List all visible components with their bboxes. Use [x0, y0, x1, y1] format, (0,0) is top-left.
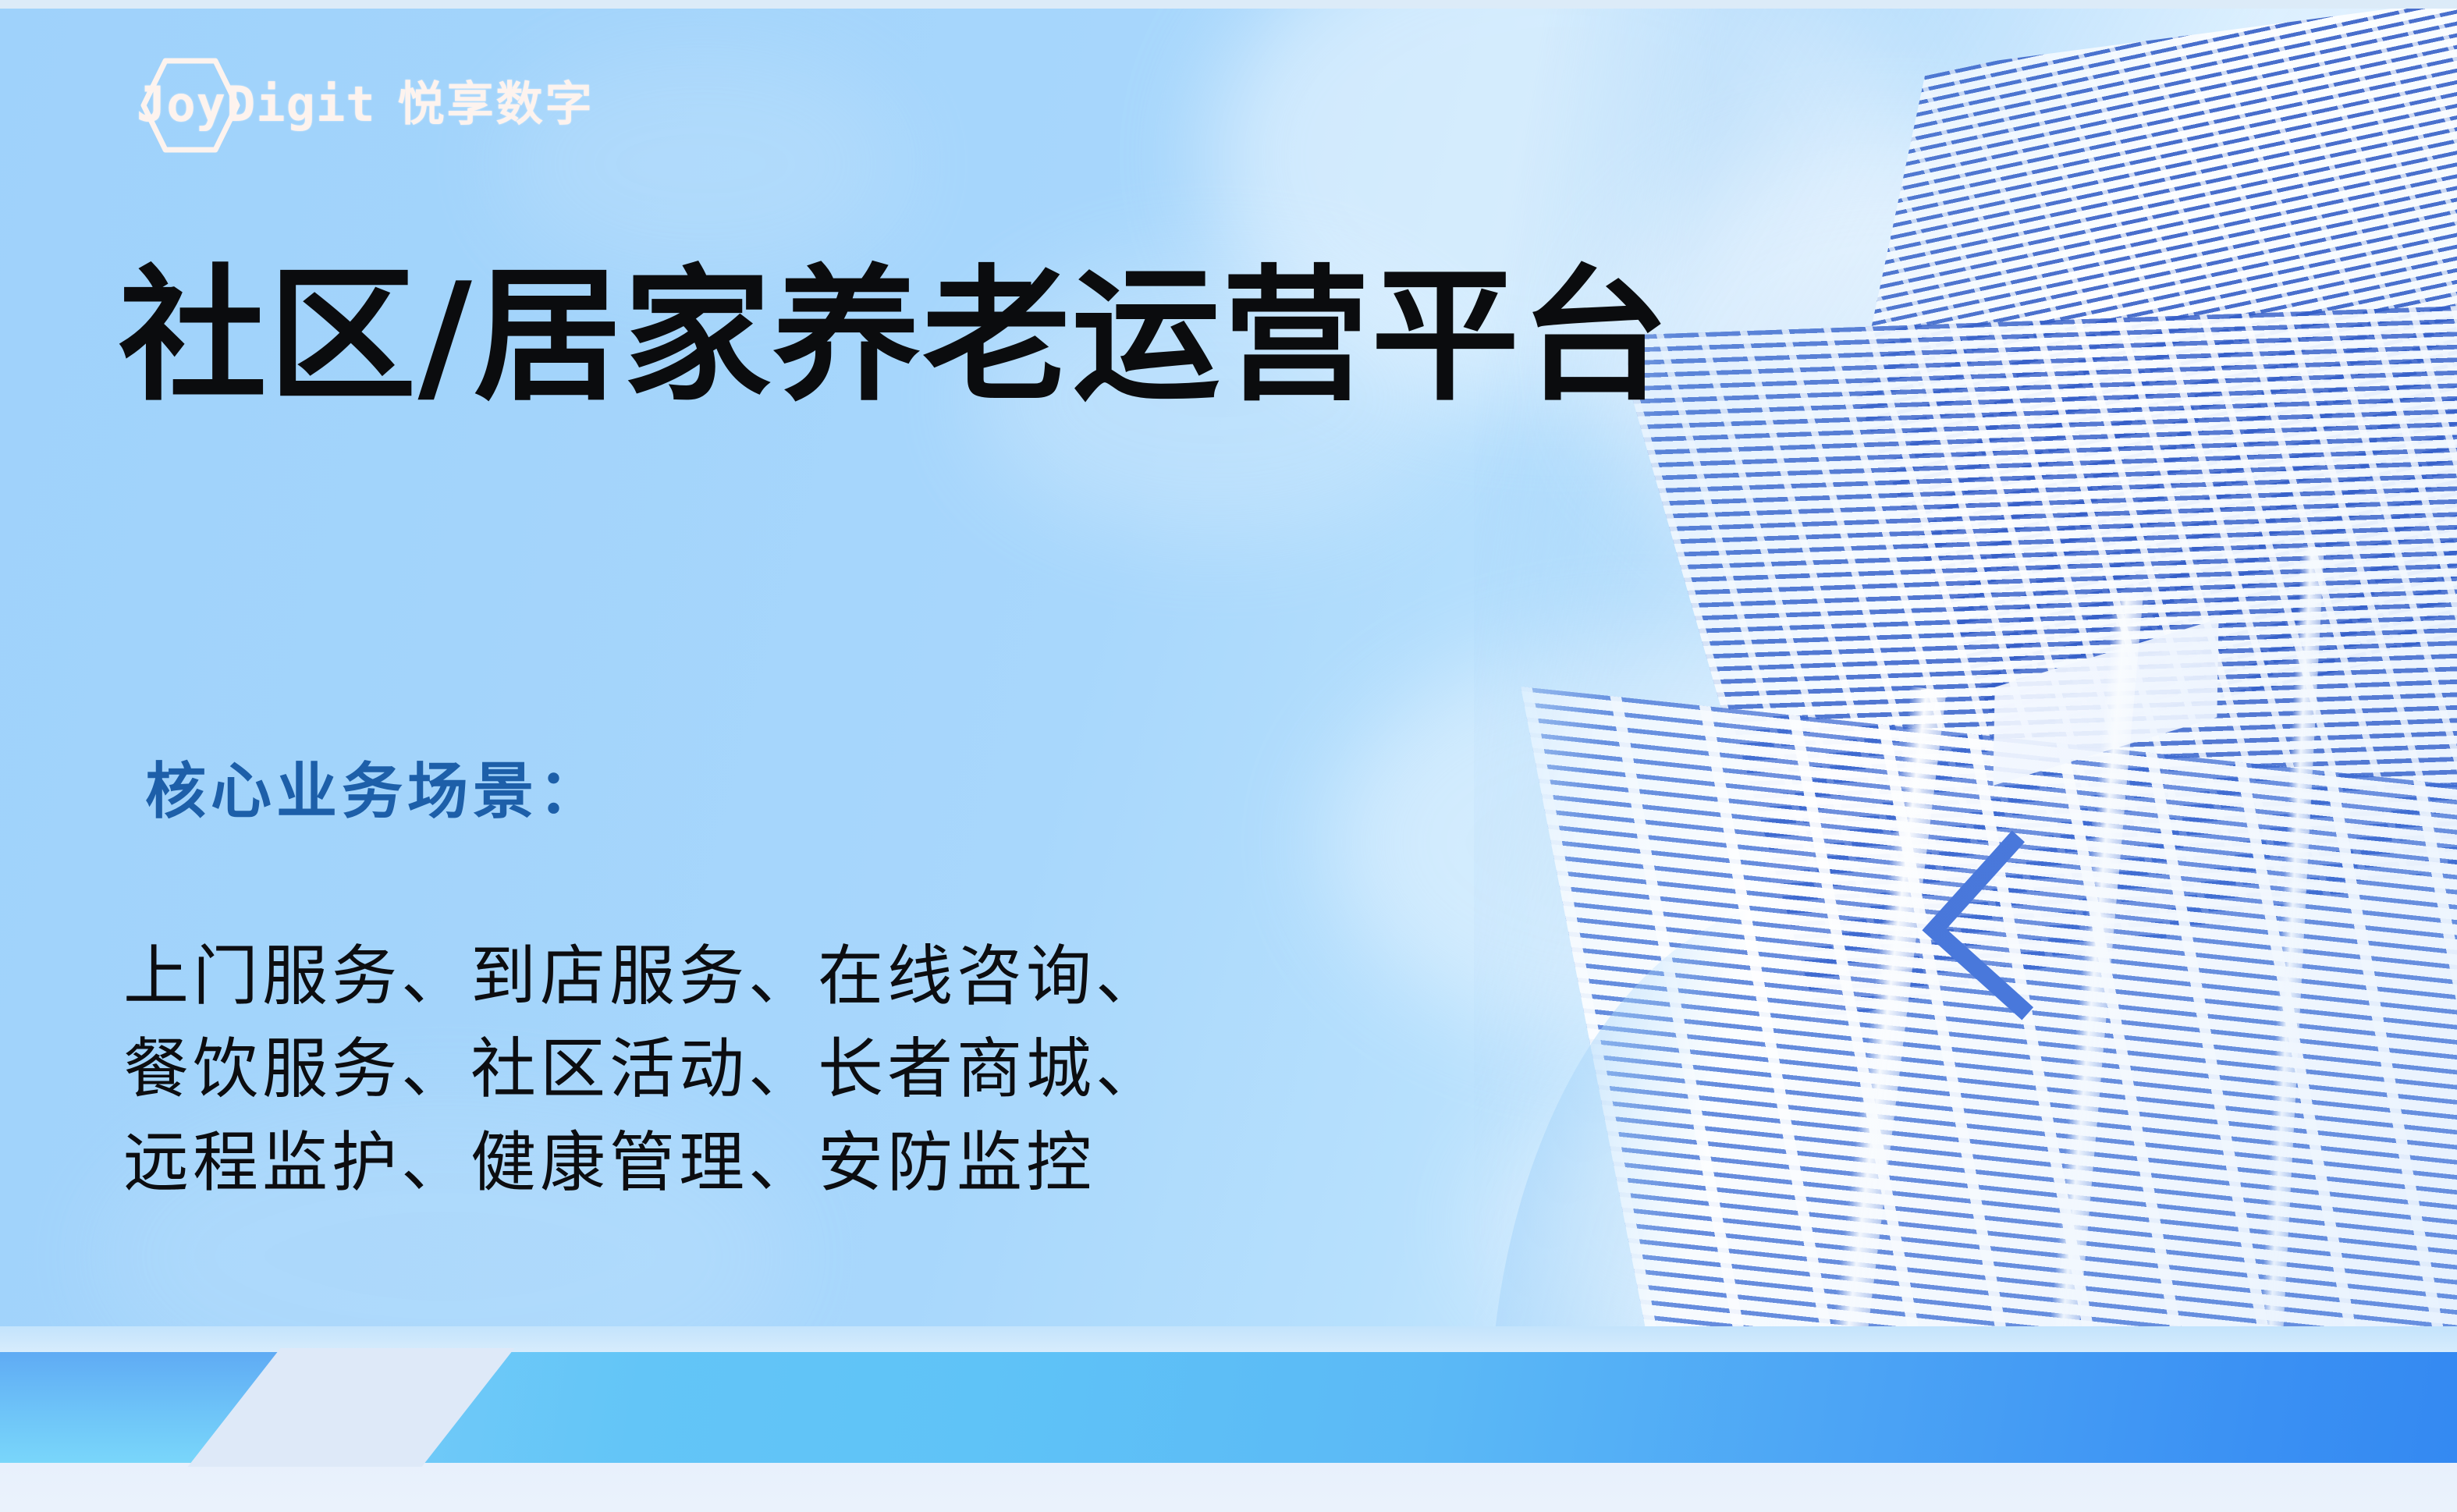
skyscraper-photo	[1474, 0, 2457, 1397]
brand-logo[interactable]: JoyDigit 悦享数字	[137, 69, 595, 140]
top-edge-strip	[0, 0, 2457, 9]
section-heading: 核心业务场景：	[145, 761, 604, 822]
scenario-list: 上门服务、到店服务、在线咨询、 餐饮服务、社区活动、长者商城、 远程监护、健康管…	[123, 930, 1165, 1209]
scenario-line: 远程监护、健康管理、安防监控	[123, 1116, 1165, 1209]
scenario-line: 餐饮服务、社区活动、长者商城、	[123, 1023, 1165, 1116]
page-title: 社区/居家养老运营平台	[119, 264, 1671, 409]
scenario-line: 上门服务、到店服务、在线咨询、	[123, 930, 1165, 1023]
logo-wordmark: JoyDigit	[137, 80, 376, 129]
bottom-decorative-band	[0, 1326, 2457, 1512]
logo-chinese-name: 悦享数字	[398, 81, 595, 128]
slide-canvas: JoyDigit 悦享数字 社区/居家养老运营平台 核心业务场景： 上门服务、到…	[0, 0, 2457, 1512]
